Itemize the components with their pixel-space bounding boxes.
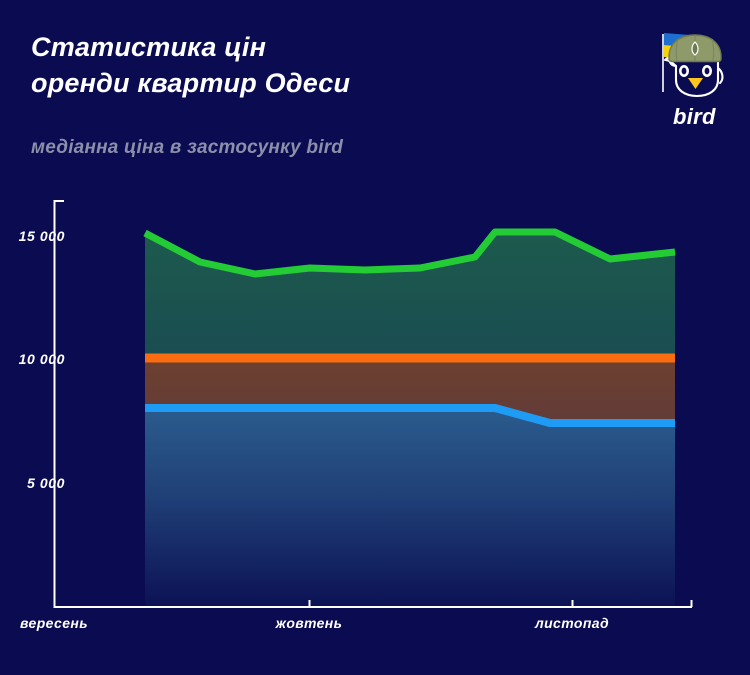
x-axis-label-october: жовтень [259, 615, 359, 631]
rent-price-area-chart: 15 000 10 000 5 000 вересень жовтень лис… [0, 0, 750, 675]
bird-in-helmet-with-ukrainian-flag-icon [645, 26, 745, 106]
infographic-canvas: 15 000 10 000 5 000 вересень жовтень лис… [0, 0, 750, 675]
page-title: Статистика цін оренди квартир Одеси [31, 30, 631, 101]
bird-logo: bird [645, 26, 745, 136]
x-axis-label-september: вересень [4, 615, 104, 631]
y-axis-label-5000: 5 000 [0, 475, 65, 491]
logo-wordmark: bird [673, 104, 716, 130]
y-axis-label-15000: 15 000 [0, 228, 65, 244]
series-area-blue [145, 408, 675, 608]
page-subtitle: медіанна ціна в застосунку bird [31, 137, 343, 159]
y-axis-label-10000: 10 000 [0, 351, 65, 367]
x-axis-label-november: листопад [522, 615, 622, 631]
